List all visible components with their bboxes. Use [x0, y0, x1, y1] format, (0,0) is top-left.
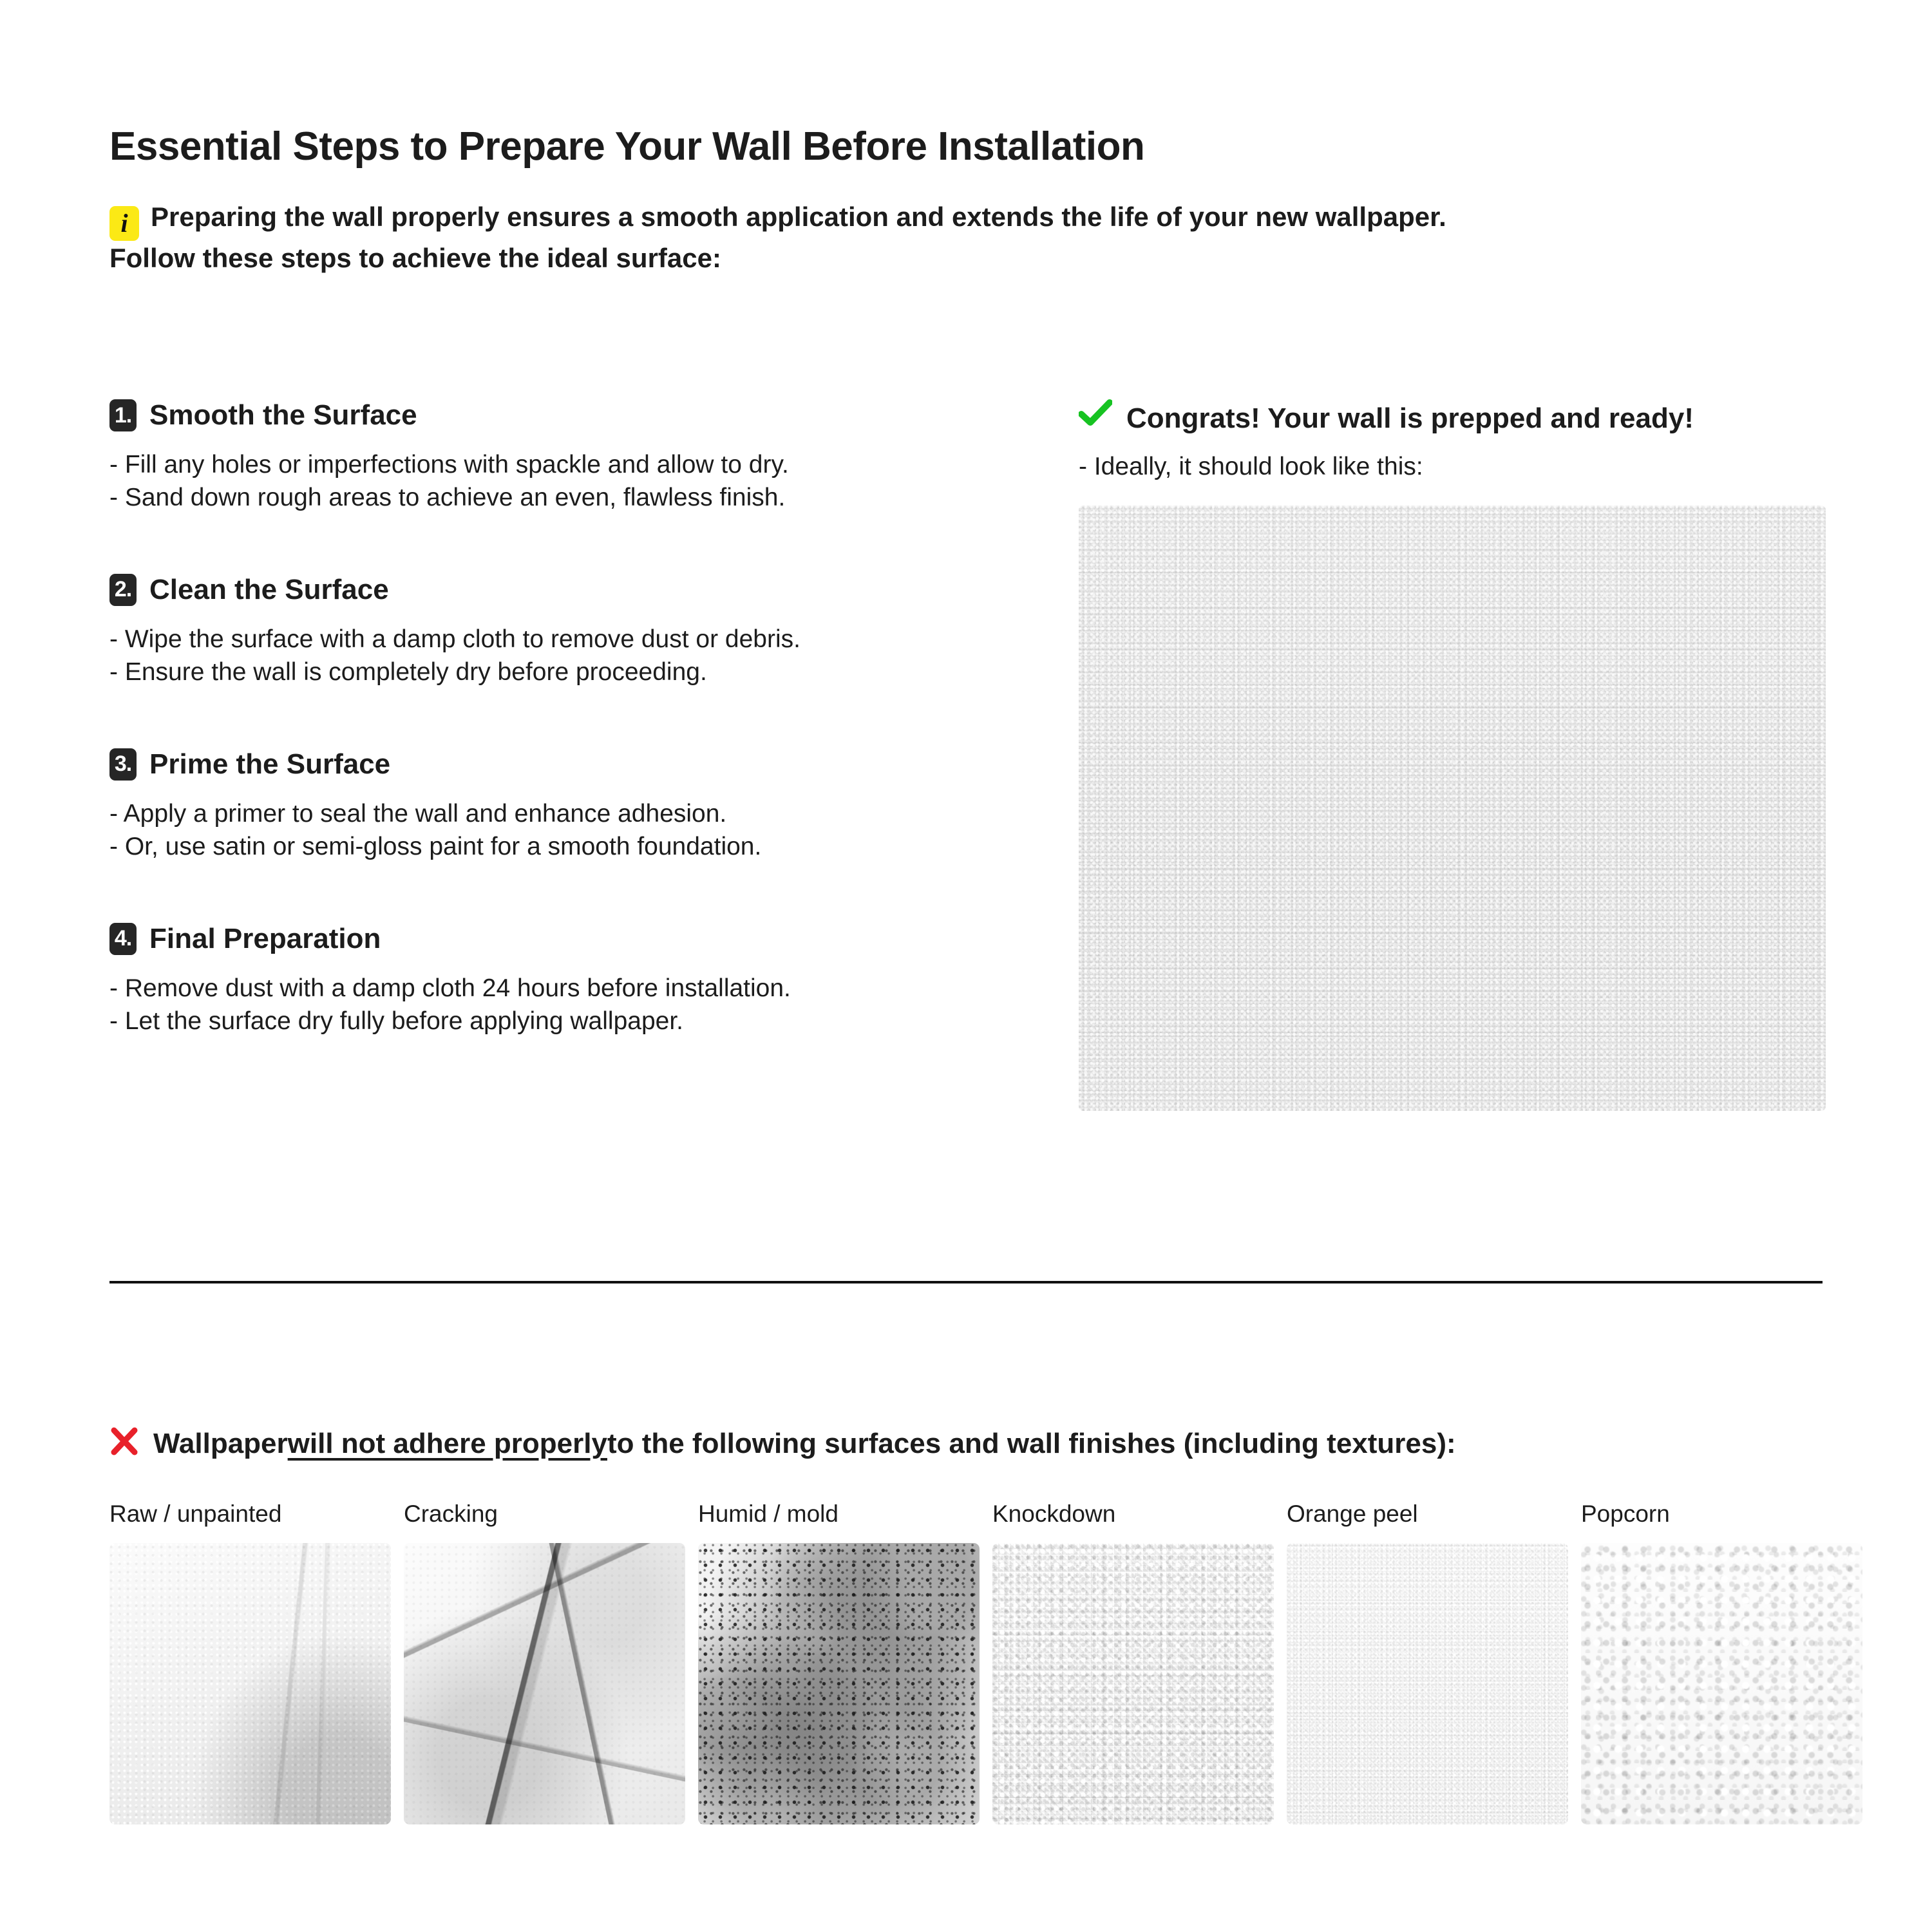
- step-heading: 1. Smooth the Surface: [109, 399, 1011, 431]
- warning-text-after: to the following surfaces and wall finis…: [607, 1428, 1456, 1460]
- step-title-2: Clean the Surface: [149, 574, 389, 606]
- texture-cell: Cracking: [404, 1501, 685, 1824]
- step-number-badge-4: 4.: [109, 923, 137, 955]
- check-icon: [1079, 399, 1112, 433]
- warning-heading: Wallpaper will not adhere properly to th…: [109, 1426, 1456, 1461]
- intro-paragraph: iPreparing the wall properly ensures a s…: [109, 200, 1835, 276]
- texture-cell: Orange peel: [1287, 1501, 1568, 1824]
- step-number-badge-3: 3.: [109, 748, 137, 781]
- texture-orange-peel: [1287, 1543, 1568, 1824]
- step-bullet: - Apply a primer to seal the wall and en…: [109, 797, 1011, 830]
- step-bullet: - Or, use satin or semi-gloss paint for …: [109, 830, 1011, 863]
- texture-humid-mold: [698, 1543, 980, 1824]
- congrats-heading: Congrats! Your wall is prepped and ready…: [1079, 399, 1826, 435]
- congrats-heading-text: Congrats! Your wall is prepped and ready…: [1126, 402, 1694, 435]
- steps-list: 1. Smooth the Surface - Fill any holes o…: [109, 399, 1011, 1038]
- step-number-badge-2: 2.: [109, 574, 137, 606]
- texture-cell: Knockdown: [992, 1501, 1274, 1824]
- step-body-2: - Wipe the surface with a damp cloth to …: [109, 623, 1011, 689]
- texture-popcorn: [1581, 1543, 1862, 1824]
- wall-prep-guide-page: Essential Steps to Prepare Your Wall Bef…: [0, 0, 1932, 1932]
- warning-text-underlined: will not adhere properly: [288, 1428, 607, 1460]
- step-heading: 3. Prime the Surface: [109, 748, 1011, 781]
- section-divider: [109, 1281, 1823, 1283]
- warning-text-before: Wallpaper: [153, 1428, 288, 1460]
- step-body-3: - Apply a primer to seal the wall and en…: [109, 797, 1011, 864]
- step-bullet: - Let the surface dry fully before apply…: [109, 1005, 1011, 1037]
- bad-surfaces-grid: Raw / unpainted Cracking Humid / mold Kn…: [109, 1501, 1848, 1824]
- texture-cracking: [404, 1543, 685, 1824]
- step-heading: 2. Clean the Surface: [109, 574, 1011, 606]
- step-title-3: Prime the Surface: [149, 748, 390, 781]
- texture-cell: Humid / mold: [698, 1501, 980, 1824]
- step-heading: 4. Final Preparation: [109, 923, 1011, 955]
- step-item-2: 2. Clean the Surface - Wipe the surface …: [109, 574, 1011, 689]
- step-item-3: 3. Prime the Surface - Apply a primer to…: [109, 748, 1011, 864]
- ideal-wall-image: [1079, 506, 1826, 1111]
- congrats-subheading: - Ideally, it should look like this:: [1079, 453, 1826, 481]
- texture-label: Knockdown: [992, 1501, 1274, 1528]
- step-bullet: - Fill any holes or imperfections with s…: [109, 448, 1011, 481]
- texture-label: Orange peel: [1287, 1501, 1568, 1528]
- texture-cell: Raw / unpainted: [109, 1501, 391, 1824]
- texture-label: Humid / mold: [698, 1501, 980, 1528]
- texture-label: Cracking: [404, 1501, 685, 1528]
- texture-label: Popcorn: [1581, 1501, 1862, 1528]
- texture-knockdown: [992, 1543, 1274, 1824]
- step-body-4: - Remove dust with a damp cloth 24 hours…: [109, 972, 1011, 1038]
- step-title-4: Final Preparation: [149, 923, 381, 955]
- step-bullet: - Sand down rough areas to achieve an ev…: [109, 481, 1011, 514]
- step-body-1: - Fill any holes or imperfections with s…: [109, 448, 1011, 515]
- page-title: Essential Steps to Prepare Your Wall Bef…: [109, 124, 1144, 169]
- step-number-badge-1: 1.: [109, 399, 137, 431]
- congrats-panel: Congrats! Your wall is prepped and ready…: [1079, 399, 1826, 1111]
- step-bullet: - Ensure the wall is completely dry befo…: [109, 656, 1011, 688]
- intro-line-1: Preparing the wall properly ensures a sm…: [151, 202, 1446, 232]
- step-bullet: - Wipe the surface with a damp cloth to …: [109, 623, 1011, 656]
- step-item-1: 1. Smooth the Surface - Fill any holes o…: [109, 399, 1011, 515]
- step-bullet: - Remove dust with a damp cloth 24 hours…: [109, 972, 1011, 1005]
- info-icon: i: [109, 206, 139, 241]
- x-icon: [109, 1426, 139, 1461]
- step-title-1: Smooth the Surface: [149, 399, 417, 431]
- texture-raw-unpainted: [109, 1543, 391, 1824]
- step-item-4: 4. Final Preparation - Remove dust with …: [109, 923, 1011, 1038]
- intro-line-2: Follow these steps to achieve the ideal …: [109, 243, 721, 273]
- texture-label: Raw / unpainted: [109, 1501, 391, 1528]
- texture-cell: Popcorn: [1581, 1501, 1862, 1824]
